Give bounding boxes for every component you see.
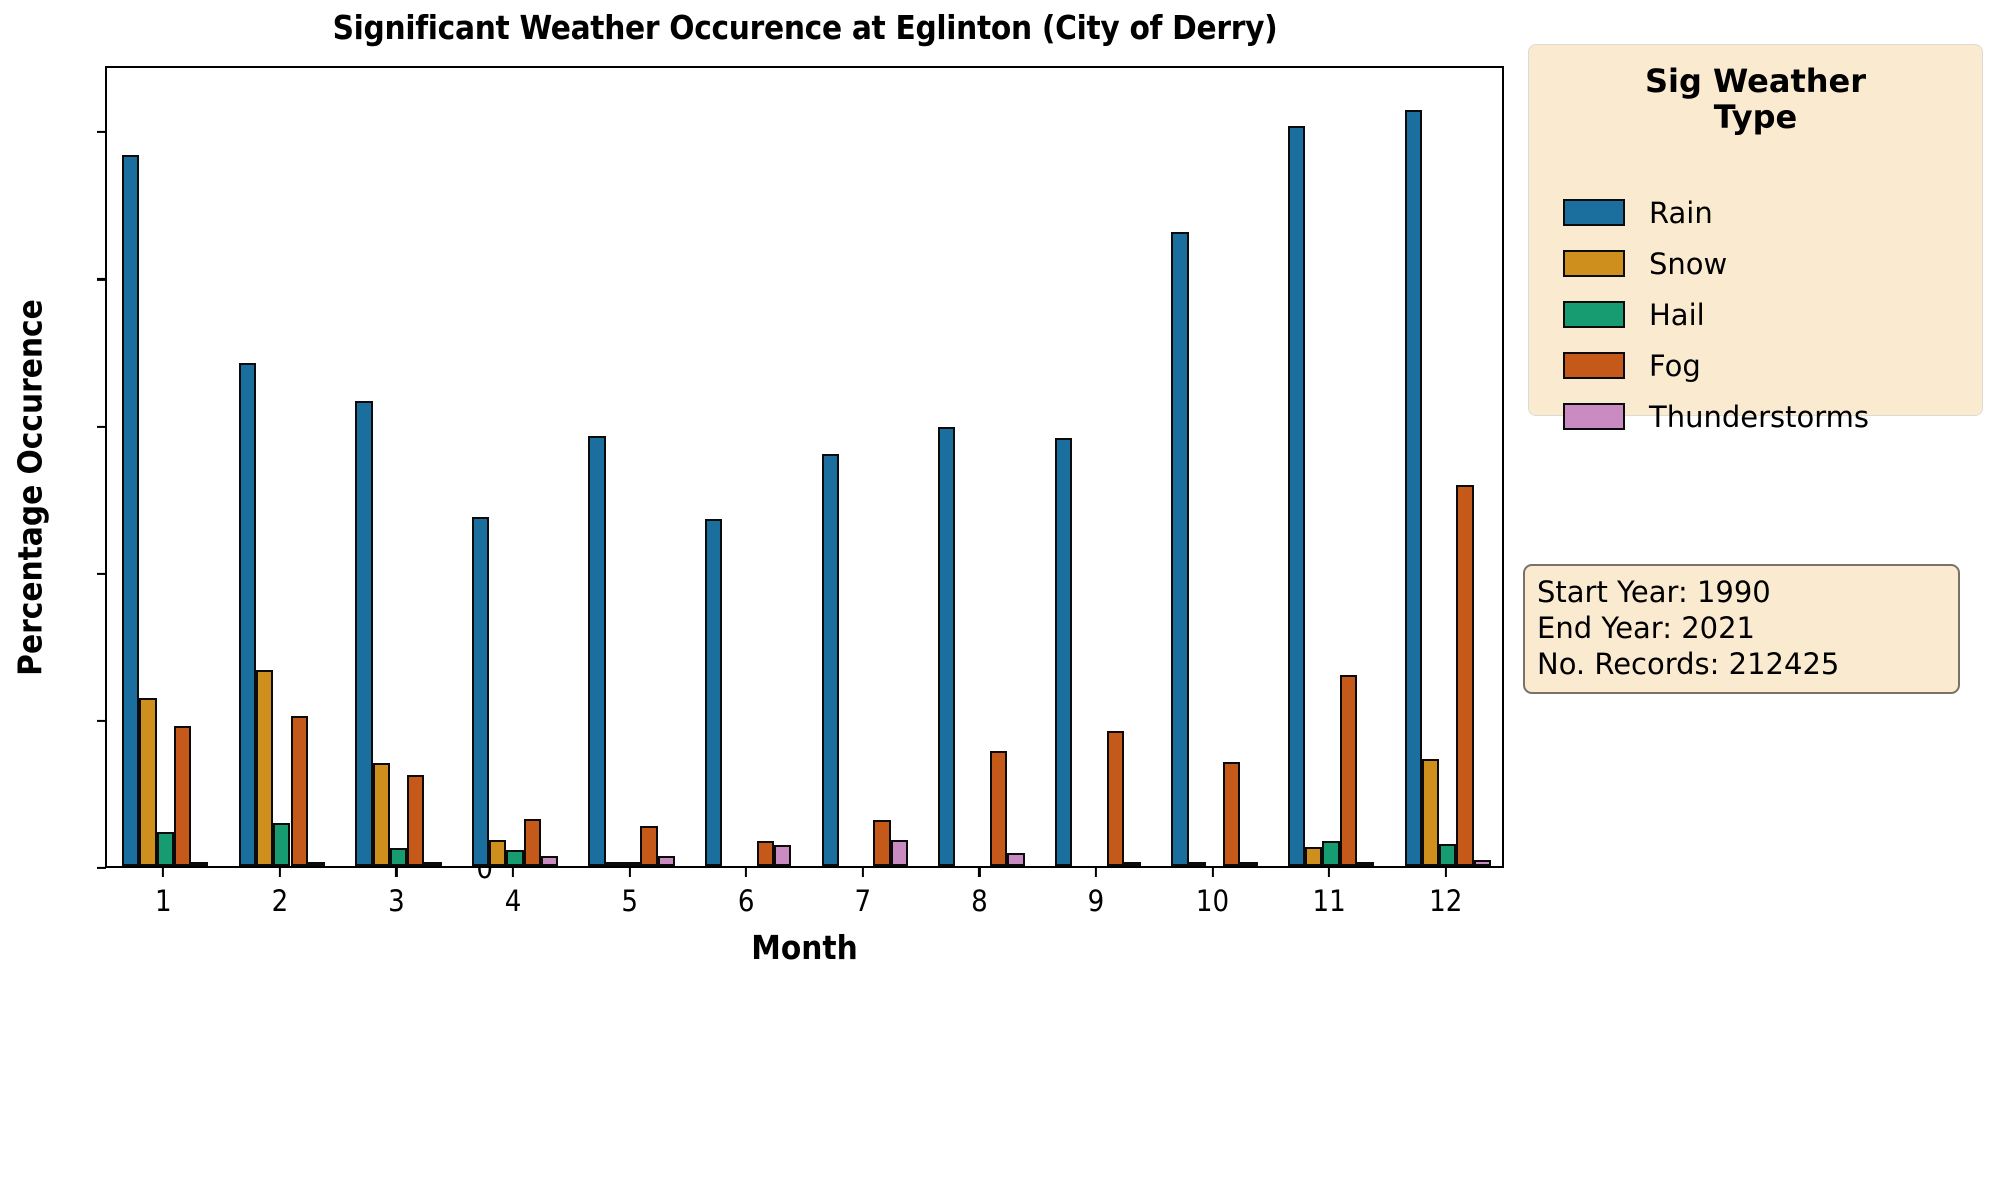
legend-label: Snow xyxy=(1649,247,1727,281)
bar-hail-month-1 xyxy=(157,832,174,866)
bar-rain-month-7 xyxy=(822,454,839,866)
bar-rain-month-12 xyxy=(1405,110,1422,866)
x-tick-mark xyxy=(1211,868,1213,877)
x-tick-mark xyxy=(629,868,631,877)
bar-thunderstorms-month-10 xyxy=(1240,862,1257,866)
bar-thunderstorms-month-1 xyxy=(191,862,208,866)
bar-fog-month-5 xyxy=(640,826,657,866)
legend-item-thunderstorms[interactable]: Thunderstorms xyxy=(1563,391,1963,442)
bar-rain-month-10 xyxy=(1171,232,1188,866)
bar-rain-month-8 xyxy=(938,427,955,866)
legend-item-snow[interactable]: Snow xyxy=(1563,238,1963,289)
chart-canvas: Significant Weather Occurence at Eglinto… xyxy=(0,0,1999,1179)
legend-title: Sig Weather Type xyxy=(1529,63,1982,135)
x-tick-label: 5 xyxy=(590,884,670,918)
legend-swatch-rain-icon xyxy=(1563,199,1625,226)
bar-rain-month-5 xyxy=(588,436,605,866)
x-tick-label: 12 xyxy=(1406,884,1486,918)
x-tick-label: 2 xyxy=(240,884,320,918)
x-tick-mark xyxy=(1328,868,1330,877)
bar-snow-month-4 xyxy=(489,840,506,866)
bar-snow-month-12 xyxy=(1422,759,1439,866)
bar-fog-month-10 xyxy=(1223,762,1240,866)
x-tick-label: 10 xyxy=(1173,884,1253,918)
x-tick-mark xyxy=(1095,868,1097,877)
bar-fog-month-12 xyxy=(1456,485,1473,866)
bar-hail-month-11 xyxy=(1322,841,1339,866)
legend-item-rain[interactable]: Rain xyxy=(1563,187,1963,238)
legend-label: Thunderstorms xyxy=(1649,400,1869,434)
legend-item-hail[interactable]: Hail xyxy=(1563,289,1963,340)
legend-label: Hail xyxy=(1649,298,1705,332)
bar-thunderstorms-month-8 xyxy=(1007,853,1024,866)
bar-hail-month-5 xyxy=(623,862,640,866)
info-line-no-records: No. Records: 212425 xyxy=(1537,646,1946,682)
bar-thunderstorms-month-3 xyxy=(424,862,441,866)
bar-hail-month-2 xyxy=(273,823,290,866)
bar-snow-month-2 xyxy=(256,670,273,866)
x-tick-mark xyxy=(512,868,514,877)
x-tick-mark xyxy=(1445,868,1447,877)
legend-swatch-hail-icon xyxy=(1563,301,1625,328)
bars-layer xyxy=(107,68,1502,866)
x-tick-mark xyxy=(279,868,281,877)
x-tick-mark xyxy=(978,868,980,877)
bar-rain-month-11 xyxy=(1288,126,1305,866)
bar-rain-month-1 xyxy=(122,155,139,866)
bar-thunderstorms-month-9 xyxy=(1124,862,1141,866)
legend-swatch-thunderstorms-icon xyxy=(1563,403,1625,430)
info-box: Start Year: 1990 End Year: 2021 No. Reco… xyxy=(1523,564,1960,694)
x-axis-label: Month xyxy=(105,928,1504,967)
x-tick-label: 1 xyxy=(123,884,203,918)
bar-rain-month-3 xyxy=(355,401,372,866)
bar-fog-month-11 xyxy=(1340,675,1357,866)
bar-thunderstorms-month-2 xyxy=(308,862,325,866)
bar-fog-month-6 xyxy=(757,841,774,866)
bar-snow-month-1 xyxy=(139,698,156,866)
bar-thunderstorms-month-4 xyxy=(541,856,558,866)
legend-swatch-fog-icon xyxy=(1563,352,1625,379)
legend-title-line-2: Type xyxy=(1529,99,1982,135)
bar-fog-month-2 xyxy=(291,716,308,866)
info-line-end-year: End Year: 2021 xyxy=(1537,610,1946,646)
x-tick-label: 9 xyxy=(1056,884,1136,918)
bar-hail-month-3 xyxy=(390,848,407,866)
bar-fog-month-4 xyxy=(524,819,541,866)
x-tick-label: 11 xyxy=(1289,884,1369,918)
bar-rain-month-4 xyxy=(472,517,489,866)
bar-snow-month-5 xyxy=(606,862,623,866)
bar-fog-month-9 xyxy=(1107,731,1124,866)
bar-thunderstorms-month-12 xyxy=(1474,860,1491,866)
x-tick-mark xyxy=(395,868,397,877)
legend-label: Rain xyxy=(1649,196,1713,230)
x-tick-mark xyxy=(862,868,864,877)
bar-hail-month-4 xyxy=(506,850,523,866)
y-axis-label: Percentage Occurence xyxy=(11,138,50,838)
x-tick-label: 3 xyxy=(356,884,436,918)
bar-snow-month-11 xyxy=(1305,847,1322,866)
plot-area xyxy=(105,66,1504,868)
x-tick-mark xyxy=(162,868,164,877)
bar-thunderstorms-month-7 xyxy=(891,840,908,866)
x-tick-mark xyxy=(745,868,747,877)
bar-rain-month-2 xyxy=(239,363,256,866)
page-title: Significant Weather Occurence at Eglinto… xyxy=(105,8,1505,47)
legend-items: RainSnowHailFogThunderstorms xyxy=(1563,187,1963,442)
bar-snow-month-3 xyxy=(373,763,390,866)
legend-item-fog[interactable]: Fog xyxy=(1563,340,1963,391)
bar-rain-month-6 xyxy=(705,519,722,866)
x-tick-label: 8 xyxy=(939,884,1019,918)
bar-thunderstorms-month-5 xyxy=(658,856,675,866)
x-tick-label: 7 xyxy=(823,884,903,918)
legend-title-line-1: Sig Weather xyxy=(1529,63,1982,99)
bar-snow-month-10 xyxy=(1189,862,1206,866)
bar-fog-month-8 xyxy=(990,751,1007,866)
legend: Sig Weather Type RainSnowHailFogThunders… xyxy=(1528,44,1983,416)
bar-rain-month-9 xyxy=(1055,438,1072,866)
bar-hail-month-12 xyxy=(1439,844,1456,866)
bar-fog-month-3 xyxy=(407,775,424,866)
bar-fog-month-1 xyxy=(174,726,191,866)
legend-label: Fog xyxy=(1649,349,1701,383)
info-line-start-year: Start Year: 1990 xyxy=(1537,574,1946,610)
legend-swatch-snow-icon xyxy=(1563,250,1625,277)
bar-fog-month-7 xyxy=(873,820,890,866)
bar-thunderstorms-month-6 xyxy=(774,845,791,866)
x-tick-label: 4 xyxy=(473,884,553,918)
x-tick-label: 6 xyxy=(706,884,786,918)
bar-thunderstorms-month-11 xyxy=(1357,862,1374,866)
